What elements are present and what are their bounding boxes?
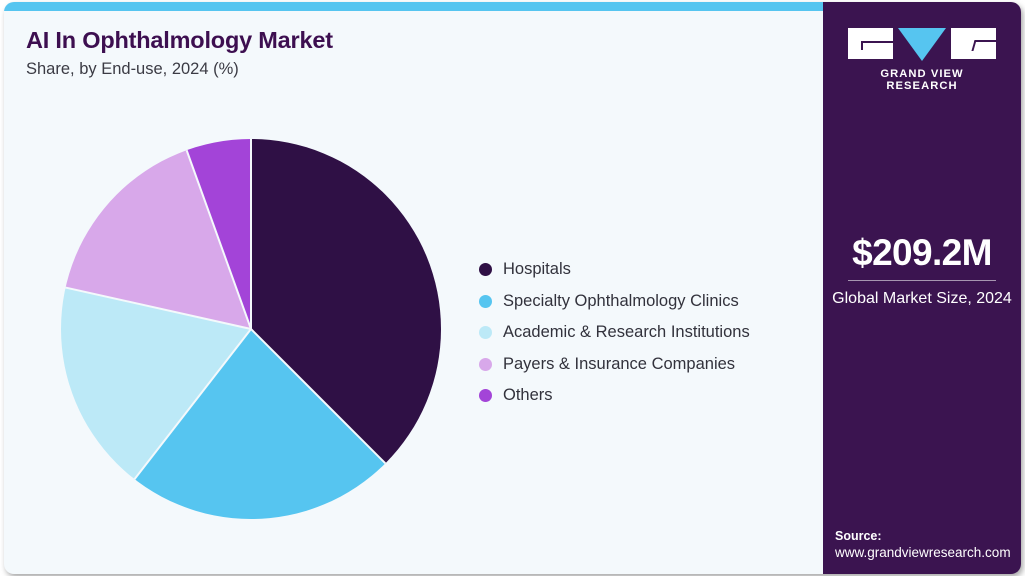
page-title: AI In Ophthalmology Market — [26, 28, 333, 54]
source-block: Source: www.grandviewresearch.com — [835, 529, 1013, 560]
legend-item[interactable]: Specialty Ophthalmology Clinics — [479, 286, 750, 318]
chart-pane: AI In Ophthalmology Market Share, by End… — [4, 2, 823, 574]
pie-chart — [61, 139, 441, 519]
legend-swatch-icon — [479, 295, 492, 308]
page-subtitle: Share, by End-use, 2024 (%) — [26, 60, 333, 79]
legend-item[interactable]: Hospitals — [479, 254, 750, 286]
legend-item[interactable]: Others — [479, 380, 750, 412]
legend-label: Hospitals — [503, 260, 571, 279]
legend-swatch-icon — [479, 263, 492, 276]
logo-marks — [847, 28, 997, 61]
source-url[interactable]: www.grandviewresearch.com — [835, 545, 1013, 560]
market-size-stat: $209.2M Global Market Size, 2024 — [823, 234, 1021, 309]
pie-slice-separator — [250, 139, 252, 329]
market-size-label: Global Market Size, 2024 — [823, 289, 1021, 309]
logo-g-icon — [848, 28, 893, 59]
chart-legend: HospitalsSpecialty Ophthalmology Clinics… — [479, 254, 750, 412]
legend-swatch-icon — [479, 326, 492, 339]
source-title: Source: — [835, 529, 1013, 543]
title-block: AI In Ophthalmology Market Share, by End… — [26, 28, 333, 79]
market-size-value: $209.2M — [823, 234, 1021, 271]
legend-label: Others — [503, 386, 553, 405]
legend-label: Specialty Ophthalmology Clinics — [503, 292, 739, 311]
logo-wordmark: GRAND VIEW RESEARCH — [847, 68, 997, 92]
legend-swatch-icon — [479, 358, 492, 371]
legend-item[interactable]: Payers & Insurance Companies — [479, 349, 750, 381]
legend-item[interactable]: Academic & Research Institutions — [479, 317, 750, 349]
gvr-logo: GRAND VIEW RESEARCH — [847, 28, 997, 92]
legend-swatch-icon — [479, 389, 492, 402]
brand-panel: GRAND VIEW RESEARCH $209.2M Global Marke… — [823, 2, 1021, 574]
stat-divider — [848, 280, 996, 281]
legend-label: Academic & Research Institutions — [503, 323, 750, 342]
chart-card: AI In Ophthalmology Market Share, by End… — [4, 2, 1021, 574]
logo-r-icon — [951, 28, 996, 59]
legend-label: Payers & Insurance Companies — [503, 355, 735, 374]
logo-v-icon — [898, 28, 946, 61]
